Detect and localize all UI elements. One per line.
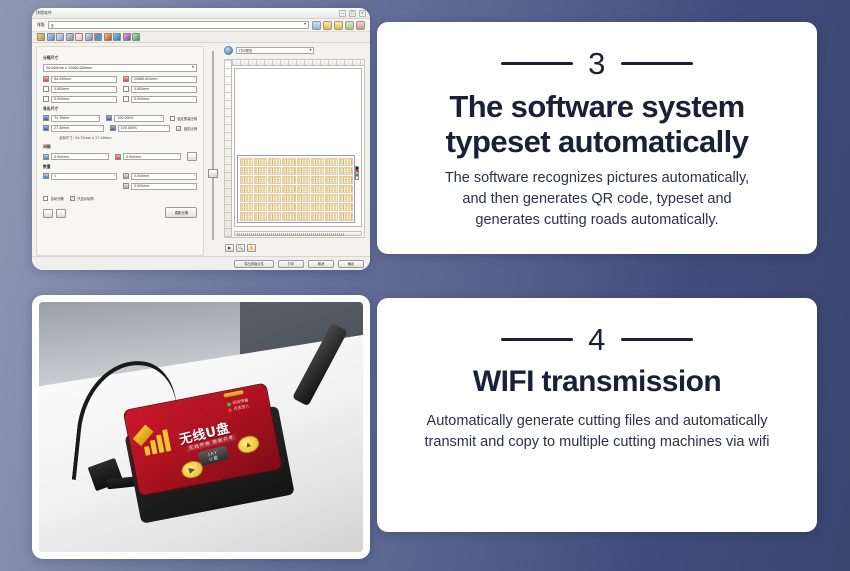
step-3-title: The software system typeset automaticall… xyxy=(446,89,749,159)
title-line-1: WIFI transmission xyxy=(473,365,721,399)
pane-footer: 重新分隔 xyxy=(43,207,197,218)
poster-root: 排版软件 — □ ✕ 排版 无 xyxy=(0,0,850,571)
node-edit-icon[interactable] xyxy=(47,33,55,41)
margin-left-input[interactable]: 0.000mm xyxy=(51,86,117,94)
label-cell xyxy=(297,158,310,166)
slider-track xyxy=(212,51,214,240)
rows-input[interactable]: 0.000mm xyxy=(131,173,197,181)
label-cell xyxy=(339,194,352,202)
minimize-icon[interactable]: — xyxy=(339,10,346,17)
ruler-horizontal xyxy=(232,60,364,66)
label-cell xyxy=(254,194,267,202)
signal-bar xyxy=(163,428,172,451)
label-cell xyxy=(311,185,324,193)
step-3-card: 3 The software system typeset automatica… xyxy=(377,22,817,254)
new-doc-icon[interactable] xyxy=(312,21,321,30)
label-cell xyxy=(325,194,338,202)
label-cell xyxy=(311,212,324,220)
margin-right-input[interactable]: 0.000mm xyxy=(131,86,197,94)
label-cell xyxy=(339,203,352,211)
outline-only-label: 只显示轮廓 xyxy=(77,196,93,201)
labels-grid[interactable] xyxy=(237,155,355,223)
print-icon[interactable] xyxy=(345,21,354,30)
scale-field-row-2: 27.40mm 100.000% ✓ 锁定比例 xyxy=(43,125,197,133)
slider-thumb[interactable] xyxy=(208,169,218,178)
auto-split-checkbox[interactable]: 自动分隔 xyxy=(43,196,64,201)
cancel-button[interactable]: 取消 xyxy=(308,260,334,268)
label-cell xyxy=(254,158,267,166)
label-cell xyxy=(311,158,324,166)
scale-group-title: 导出尺寸 xyxy=(43,106,197,112)
software-body: 分隔尺寸 50.000mm x 32000.000mm 64.200mm 228… xyxy=(32,43,370,270)
auto-split-label: 自动分隔 xyxy=(51,196,64,201)
scale-height-percent-input[interactable]: 100.000% xyxy=(118,125,171,133)
label-cell xyxy=(268,185,281,193)
template-row: 排版 无 xyxy=(32,19,370,32)
label-cell xyxy=(268,158,281,166)
label-cell xyxy=(325,212,338,220)
label-cell xyxy=(311,194,324,202)
label-cell xyxy=(240,176,253,184)
total-size-note: 全部尺寸: 34.70mm x 27.40mm xyxy=(59,135,197,140)
scale-height-input[interactable]: 27.40mm xyxy=(51,125,104,133)
label-cell xyxy=(268,167,281,175)
device-photo-card: 无线U盘 无线传输 数据共享 无线传输 点击进入 JAY U盘 ▶ ▲ xyxy=(32,295,370,559)
margin-left-icon xyxy=(43,86,49,92)
preview-canvas[interactable] xyxy=(224,59,365,238)
body-line-1: The software recognizes pictures automat… xyxy=(445,168,749,189)
label-cell xyxy=(268,203,281,211)
label-cell xyxy=(325,167,338,175)
gap-x-icon xyxy=(43,154,49,160)
label-cell xyxy=(240,167,253,175)
delete-icon[interactable] xyxy=(356,21,365,30)
typesetting-software-window: 排版软件 — □ ✕ 排版 无 xyxy=(32,8,370,270)
label-cell xyxy=(339,158,352,166)
dialog-footer: 导出排版文件 打印 取消 确定 xyxy=(32,256,370,270)
step-4-panel: 4 WIFI transmission Automatically genera… xyxy=(377,298,817,532)
label-cell xyxy=(282,185,295,193)
label-cell xyxy=(339,185,352,193)
margin-top-icon xyxy=(43,96,49,102)
keep-proportion-label: 锁定比例 xyxy=(184,126,197,131)
label-cell xyxy=(325,203,338,211)
color-fill-icon[interactable] xyxy=(94,33,102,41)
export-button[interactable]: 导出排版文件 xyxy=(234,260,274,268)
ruler-vertical xyxy=(225,60,232,237)
software-screenshot-card: 排版软件 — □ ✕ 排版 无 xyxy=(32,8,370,270)
label-cell xyxy=(254,167,267,175)
options-row: 自动分隔 ✓ 只显示轮廓 xyxy=(43,196,197,201)
window-titlebar: 排版软件 — □ ✕ xyxy=(32,8,370,19)
count-group-title: 数量 xyxy=(43,164,197,170)
apply-icon[interactable] xyxy=(187,152,197,161)
save-icon[interactable] xyxy=(334,21,343,30)
color-bar-indicator xyxy=(355,166,359,180)
label-cell xyxy=(240,203,253,211)
body-line-2: and then generates QR code, typeset and xyxy=(445,189,749,210)
label-cell xyxy=(282,167,295,175)
step-4-body: Automatically generate cutting files and… xyxy=(425,411,770,453)
label-cell xyxy=(282,194,295,202)
step-3-header: 3 xyxy=(501,48,693,79)
rule-left xyxy=(501,338,573,341)
cols-input[interactable]: 0.000mm xyxy=(131,183,197,191)
label-cell xyxy=(240,158,253,166)
properties-pane: 分隔尺寸 50.000mm x 32000.000mm 64.200mm 228… xyxy=(36,46,204,256)
label-cell xyxy=(325,158,338,166)
text-tool-icon[interactable] xyxy=(56,33,64,41)
mirror-icon[interactable] xyxy=(43,209,53,218)
label-cell xyxy=(254,203,267,211)
margin-bottom-icon xyxy=(123,96,129,102)
size-field-row: 64.200mm 22880.000mm xyxy=(43,76,197,84)
label-cell xyxy=(297,194,310,202)
label-cell xyxy=(297,203,310,211)
preview-pane: 打印预览 xyxy=(220,43,370,270)
body-line-1: Automatically generate cutting files and… xyxy=(425,411,770,432)
main-toolbar xyxy=(32,32,370,43)
margin-top-input[interactable]: 0.000mm xyxy=(51,96,117,104)
lock-ratio-label: 锁定宽高比例 xyxy=(177,116,197,121)
checkbox-box xyxy=(170,116,175,121)
count-icon xyxy=(43,173,49,179)
led-red-icon xyxy=(229,408,233,412)
width-input[interactable]: 64.200mm xyxy=(51,76,117,84)
label-cell xyxy=(311,167,324,175)
height-input[interactable]: 22880.000mm xyxy=(131,76,197,84)
open-icon[interactable] xyxy=(323,21,332,30)
lock-ratio-checkbox[interactable]: 锁定宽高比例 xyxy=(170,116,197,121)
checkbox-box xyxy=(43,196,48,201)
zoom-slider[interactable] xyxy=(207,47,219,266)
up-button-icon[interactable]: ▲ xyxy=(236,433,262,456)
window-controls: — □ ✕ xyxy=(339,10,366,17)
margin-field-row-2: 0.000mm 0.000mm xyxy=(43,96,197,104)
gradient-icon[interactable] xyxy=(104,33,112,41)
label-cell xyxy=(325,185,338,193)
label-cell xyxy=(297,176,310,184)
label-cell xyxy=(311,203,324,211)
re-split-button[interactable]: 重新分隔 xyxy=(165,207,197,218)
header-icon-group xyxy=(312,21,365,30)
percent-h-icon xyxy=(110,125,116,131)
step-number: 4 xyxy=(588,324,606,355)
canvas-scrollbar-horizontal[interactable] xyxy=(234,231,362,236)
barcode-icon[interactable] xyxy=(85,33,93,41)
step-3-panel: 3 The software system typeset automatica… xyxy=(377,22,817,254)
label-cell xyxy=(282,176,295,184)
gap-y-input[interactable]: 0.000mm xyxy=(123,153,181,161)
step-4-title: WIFI transmission xyxy=(473,365,721,399)
spacing-group-title: 间隔 xyxy=(43,144,197,150)
width-icon xyxy=(43,76,49,82)
status-led-group: 无线传输 点击进入 xyxy=(227,397,250,413)
label-cell xyxy=(297,167,310,175)
step-3-body: The software recognizes pictures automat… xyxy=(445,168,749,231)
top-led-strip xyxy=(224,389,245,397)
size-preset-select[interactable]: 50.000mm x 32000.000mm xyxy=(43,64,197,72)
size-group-title: 分隔尺寸 xyxy=(43,55,197,61)
cols-icon xyxy=(123,183,129,189)
effects-icon[interactable] xyxy=(132,33,140,41)
margin-right-icon xyxy=(123,86,129,92)
height-icon xyxy=(123,76,129,82)
body-line-3: generates cutting roads automatically. xyxy=(445,210,749,231)
scale-width-input[interactable]: 34.70mm xyxy=(51,115,100,123)
led-green-icon xyxy=(228,402,232,406)
margin-field-row-1: 0.000mm 0.000mm xyxy=(43,86,197,94)
percent-w-icon xyxy=(106,115,112,121)
gap-y-icon xyxy=(115,154,121,160)
count-field-row-2: 0.000mm xyxy=(43,183,197,191)
label-cell xyxy=(268,212,281,220)
label-cell xyxy=(240,194,253,202)
image-tool-icon[interactable] xyxy=(66,33,74,41)
label-cell xyxy=(339,167,352,175)
signal-bars-icon xyxy=(142,428,172,455)
label-cell xyxy=(254,176,267,184)
label-cell xyxy=(282,212,295,220)
label-cell xyxy=(268,194,281,202)
step-4-header: 4 xyxy=(501,324,693,355)
zoom-tool-icon[interactable]: 🔍 xyxy=(236,244,245,252)
gap-x-input[interactable]: 0.000mm xyxy=(51,153,109,161)
label-cell xyxy=(254,212,267,220)
count-input[interactable]: 1 xyxy=(51,173,117,181)
print-button[interactable]: 打印 xyxy=(278,260,304,268)
maximize-icon[interactable]: □ xyxy=(349,10,356,17)
step-number: 3 xyxy=(588,48,606,79)
window-title: 排版软件 xyxy=(36,10,52,16)
keep-proportion-checkbox[interactable]: ✓ 锁定比例 xyxy=(176,126,197,131)
scale-h-icon xyxy=(43,125,49,131)
label-cell xyxy=(240,185,253,193)
spacing-field-row: 0.000mm 0.000mm xyxy=(43,152,197,161)
label-cell xyxy=(325,176,338,184)
layer-icon[interactable] xyxy=(113,33,121,41)
label-cell xyxy=(240,212,253,220)
palette-icon[interactable] xyxy=(123,33,131,41)
template-select[interactable]: 无 xyxy=(48,21,309,29)
pointer-tool-icon[interactable]: ▶ xyxy=(225,244,234,252)
rule-right xyxy=(621,338,693,341)
rows-icon xyxy=(123,173,129,179)
checkbox-box: ✓ xyxy=(176,126,181,131)
scale-w-icon xyxy=(43,115,49,121)
label-cell xyxy=(282,203,295,211)
template-label: 排版 xyxy=(37,22,45,28)
rule-left xyxy=(501,62,573,65)
pan-tool-icon[interactable]: ✋ xyxy=(247,244,256,252)
page-sheet xyxy=(234,68,362,227)
count-field-row-1: 1 0.000mm xyxy=(43,173,197,181)
title-line-1: The software system xyxy=(446,89,749,124)
margin-bottom-input[interactable]: 0.000mm xyxy=(131,96,197,104)
label-cell xyxy=(282,158,295,166)
rotate-icon[interactable] xyxy=(56,209,66,218)
preview-header: 打印预览 xyxy=(220,43,370,57)
select-tool-icon[interactable] xyxy=(37,33,45,41)
confirm-button[interactable]: 确定 xyxy=(338,260,364,268)
label-cell xyxy=(254,185,267,193)
rule-right xyxy=(621,62,693,65)
scale-field-row-1: 34.70mm 100.000% 锁定宽高比例 xyxy=(43,115,197,123)
label-cell xyxy=(339,212,352,220)
preview-toolbar: ▶ 🔍 ✋ xyxy=(225,244,256,252)
close-icon[interactable]: ✕ xyxy=(359,10,366,17)
outline-only-checkbox[interactable]: ✓ 只显示轮廓 xyxy=(70,196,94,201)
label-cell xyxy=(268,176,281,184)
preview-mode-icon[interactable] xyxy=(224,46,233,55)
label-cell xyxy=(339,176,352,184)
checkbox-box: ✓ xyxy=(70,196,75,201)
scale-width-percent-input[interactable]: 100.000% xyxy=(114,115,163,123)
label-cell xyxy=(297,212,310,220)
body-line-2: transmit and copy to multiple cutting ma… xyxy=(425,432,770,453)
label-cell xyxy=(311,176,324,184)
rect-tool-icon[interactable] xyxy=(75,33,83,41)
label-cell xyxy=(297,185,310,193)
title-line-2: typeset automatically xyxy=(446,124,749,159)
wireless-usb-device-photo: 无线U盘 无线传输 数据共享 无线传输 点击进入 JAY U盘 ▶ ▲ xyxy=(39,302,363,552)
step-4-card: 4 WIFI transmission Automatically genera… xyxy=(377,298,817,532)
preview-mode-select[interactable]: 打印预览 xyxy=(236,47,314,55)
